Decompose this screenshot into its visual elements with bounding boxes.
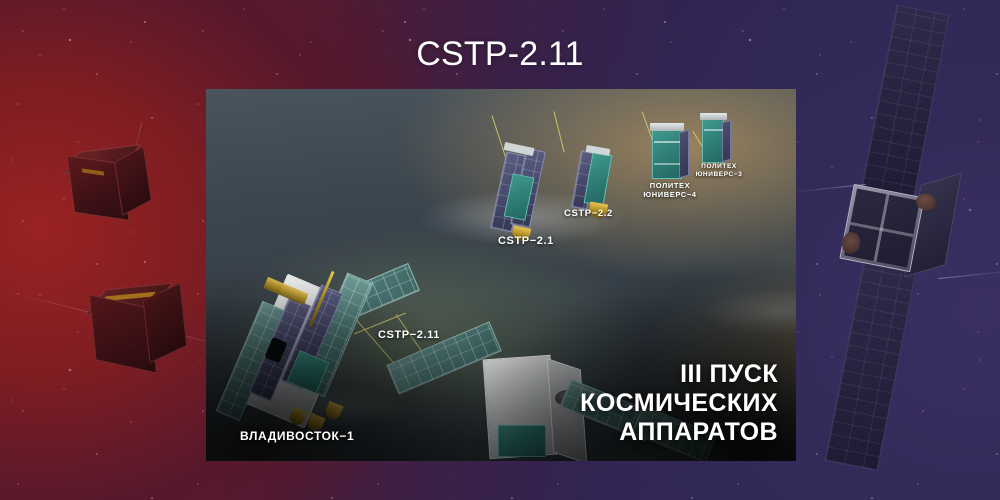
antenna-boom-icon <box>938 270 1000 279</box>
cubesat-side-face <box>143 283 188 364</box>
caption-cstp-2-2: CSTP−2.2 <box>564 208 613 220</box>
caption-cstp-2-1: CSTP−2.1 <box>498 235 554 249</box>
antenna-icon <box>131 122 143 165</box>
antenna-boom-icon <box>11 292 234 349</box>
antenna-boom-icon <box>788 184 866 193</box>
caption-cstp-2-11: CSTP−2.11 <box>378 329 440 343</box>
caption-line-1: ПОЛИТЕХ <box>683 163 755 171</box>
solar-wing-lower <box>824 255 917 471</box>
caption-vladivostok-1: ВЛАДИВОСТОК−1 <box>240 429 354 444</box>
satellite-bus-side <box>904 173 962 278</box>
photo-headline: III ПУСК КОСМИЧЕСКИХ АППАРАТОВ <box>580 360 778 447</box>
embedded-photo: CSTP−2.11 CSTP−2.1 CSTP−2.2 ПОЛИТЕХ ЮНИВ… <box>206 89 796 461</box>
cubesat-top-face <box>63 144 140 174</box>
caption-line-1: ПОЛИТЕХ <box>630 181 710 190</box>
caption-politeh-universe-4: ПОЛИТЕХ ЮНИВЕРС−4 <box>630 181 710 200</box>
cubesat-front-face <box>89 294 157 373</box>
cubesat-gold-stripe <box>82 168 104 175</box>
cubesat-side-face <box>114 146 152 216</box>
slide-title: CSTP-2.11 <box>0 36 1000 73</box>
antenna-dish-icon <box>840 230 862 255</box>
satellite-bus-main <box>839 184 924 272</box>
antenna-dish-icon <box>915 192 938 212</box>
headline-line-2: КОСМИЧЕСКИХ <box>580 389 778 418</box>
solar-wing-upper <box>860 5 949 202</box>
caption-line-2: ЮНИВЕРС−3 <box>683 171 755 179</box>
presentation-slide: CSTP-2.11 <box>0 0 1000 500</box>
caption-politeh-universe-5: ПОЛИТЕХ ЮНИВЕРС−3 <box>683 163 755 179</box>
headline-line-3: АППАРАТОВ <box>580 418 778 447</box>
background-cubesat-top-left <box>52 136 162 236</box>
background-satellite-right <box>820 90 1000 420</box>
background-cubesat-mid-left <box>78 268 208 388</box>
satellite-panel-grid <box>844 189 920 268</box>
cubesat-top-face <box>85 283 173 315</box>
cubesat-gold-stripe <box>102 292 156 302</box>
caption-line-2: ЮНИВЕРС−4 <box>630 190 710 199</box>
cubesat-front-face <box>66 155 129 221</box>
headline-line-1: III ПУСК <box>580 360 778 389</box>
